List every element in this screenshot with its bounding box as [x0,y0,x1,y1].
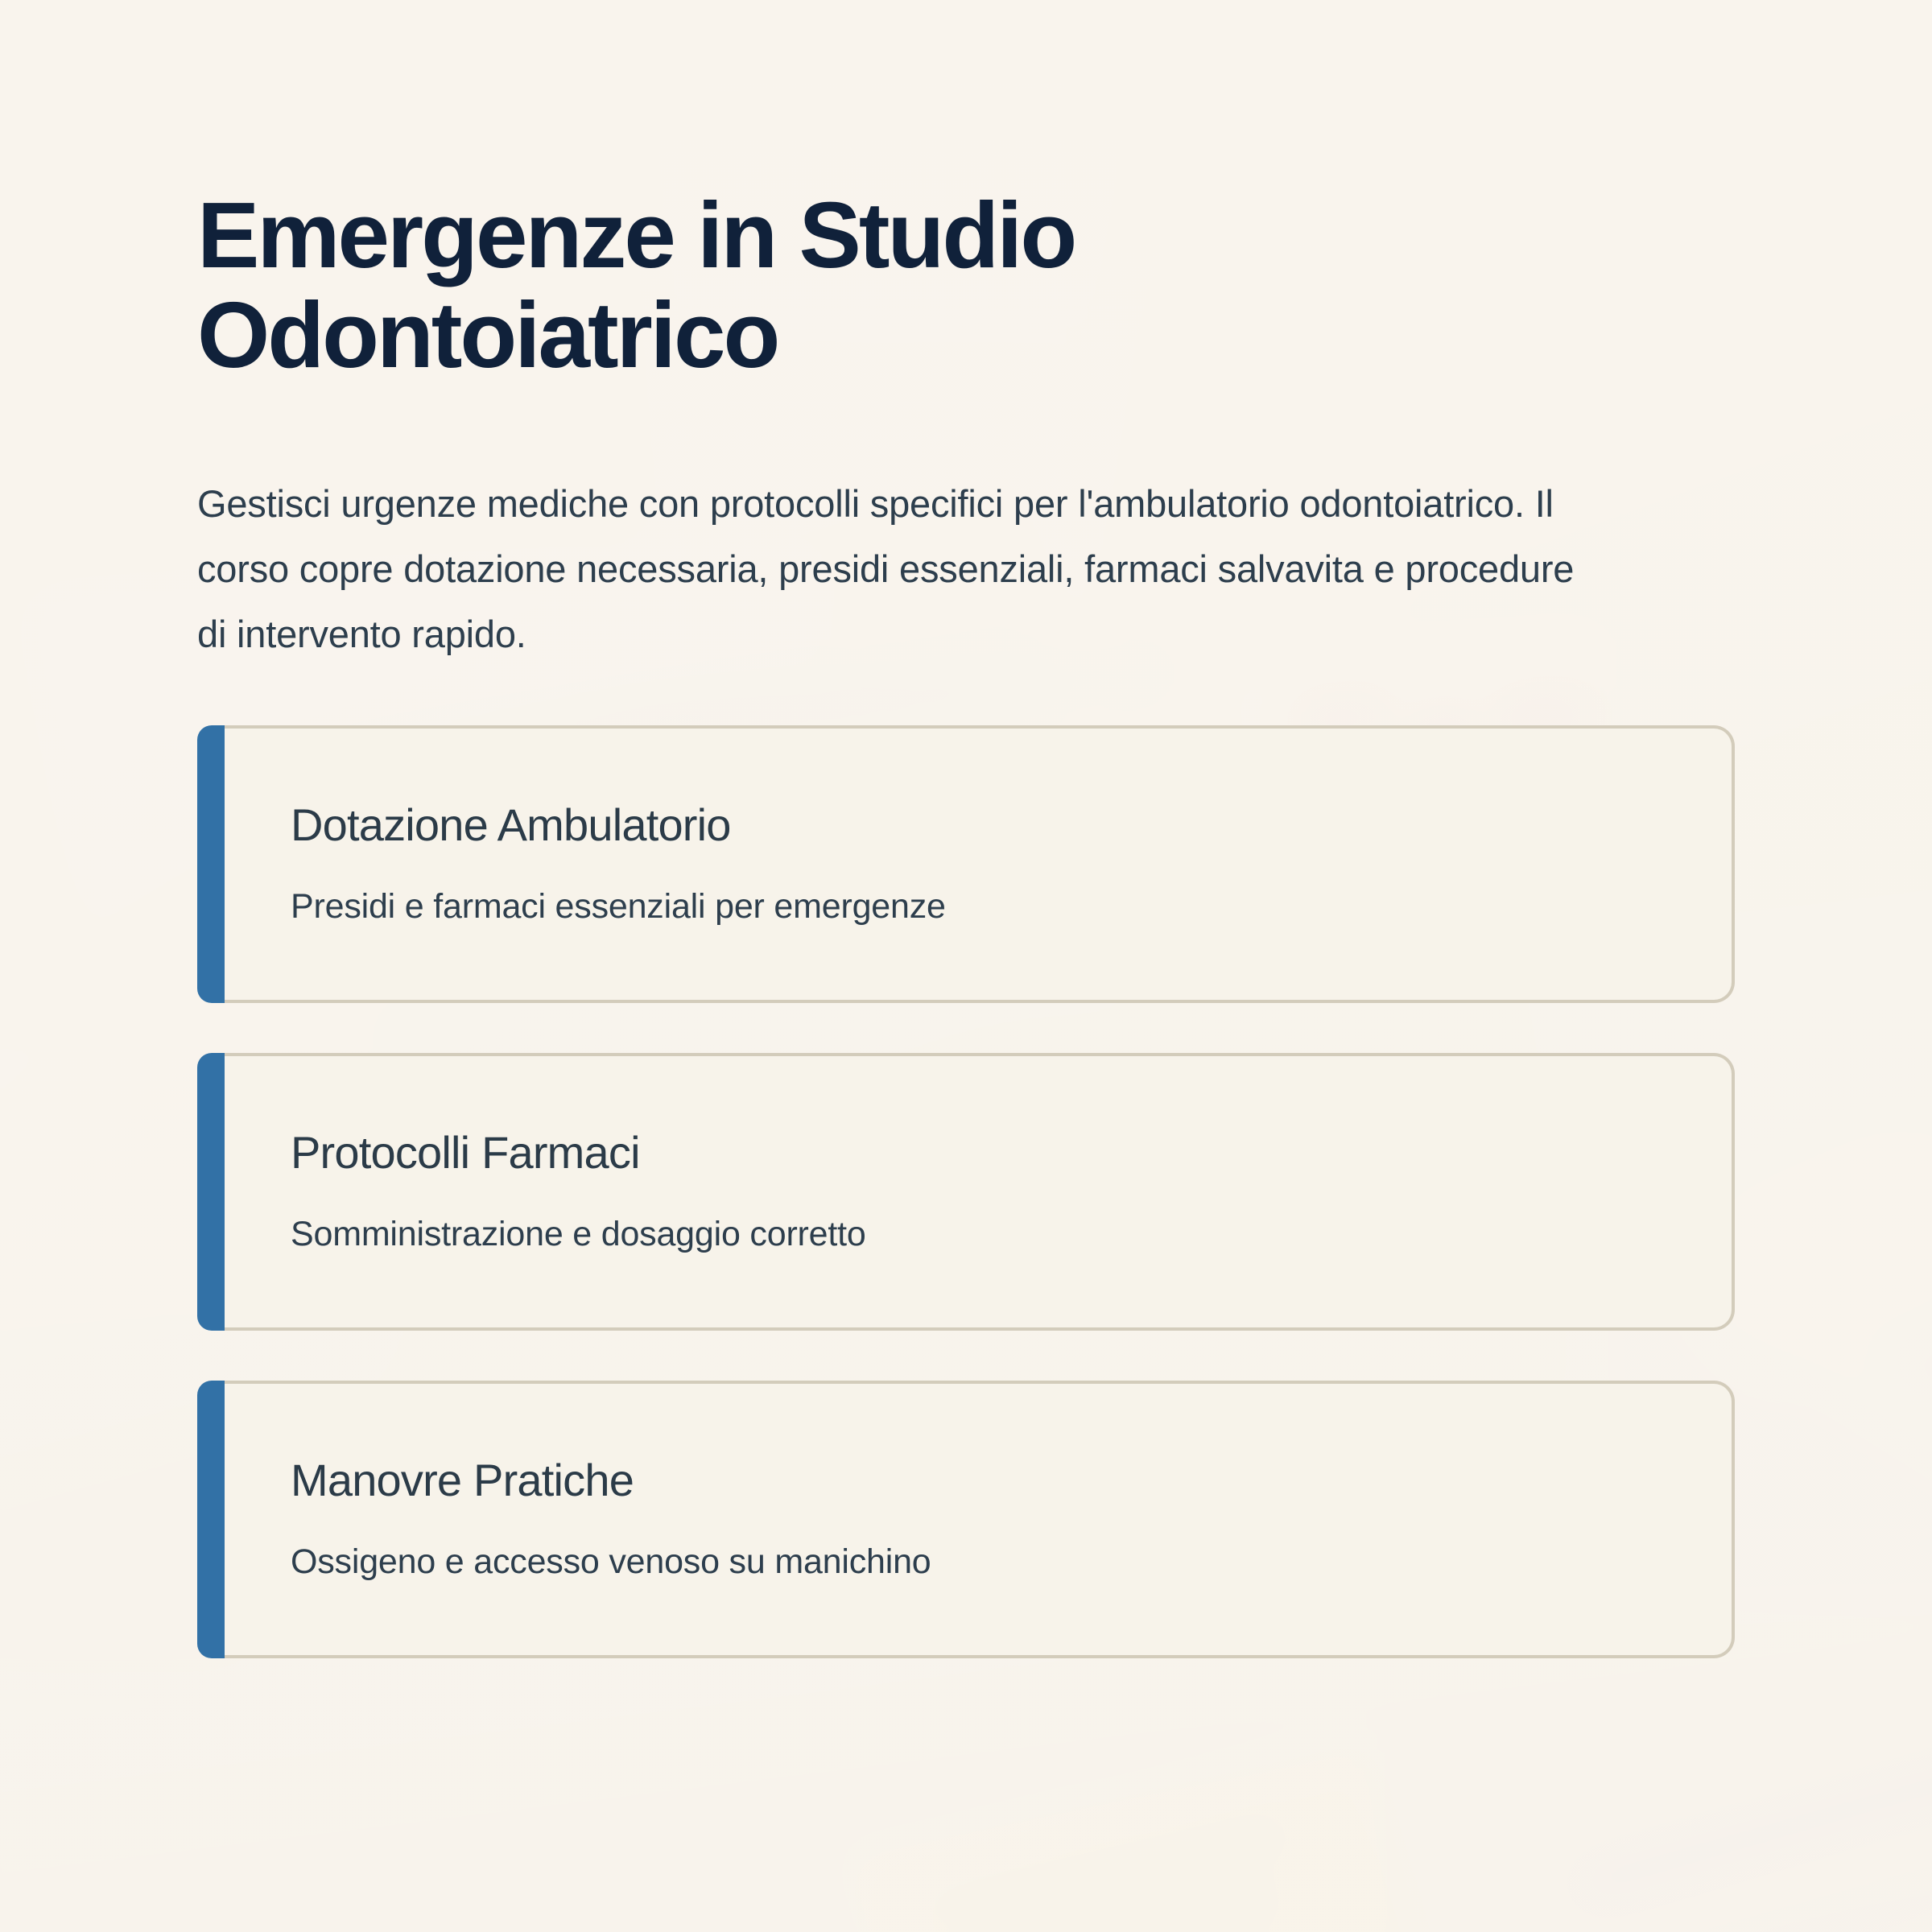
feature-card[interactable]: Protocolli Farmaci Somministrazione e do… [197,1053,1735,1331]
feature-card[interactable]: Manovre Pratiche Ossigeno e accesso veno… [197,1381,1735,1658]
feature-card-body: Protocolli Farmaci Somministrazione e do… [225,1053,1735,1331]
feature-list: Dotazione Ambulatorio Presidi e farmaci … [197,725,1735,1658]
page-description: Gestisci urgenze mediche con protocolli … [197,472,1598,667]
main-content: Emergenze in Studio Odontoiatrico Gestis… [0,0,1932,1658]
feature-subtitle: Ossigeno e accesso venoso su manichino [291,1542,1675,1583]
feature-card[interactable]: Dotazione Ambulatorio Presidi e farmaci … [197,725,1735,1003]
feature-accent-bar [197,1381,225,1658]
feature-subtitle: Somministrazione e dosaggio corretto [291,1214,1675,1256]
feature-card-body: Manovre Pratiche Ossigeno e accesso veno… [225,1381,1735,1658]
feature-card-body: Dotazione Ambulatorio Presidi e farmaci … [225,725,1735,1003]
feature-title: Dotazione Ambulatorio [291,800,1675,850]
feature-title: Manovre Pratiche [291,1455,1675,1505]
feature-subtitle: Presidi e farmaci essenziali per emergen… [291,886,1675,928]
feature-accent-bar [197,725,225,1003]
feature-title: Protocolli Farmaci [291,1128,1675,1178]
feature-accent-bar [197,1053,225,1331]
page-title: Emergenze in Studio Odontoiatrico [197,185,1373,385]
